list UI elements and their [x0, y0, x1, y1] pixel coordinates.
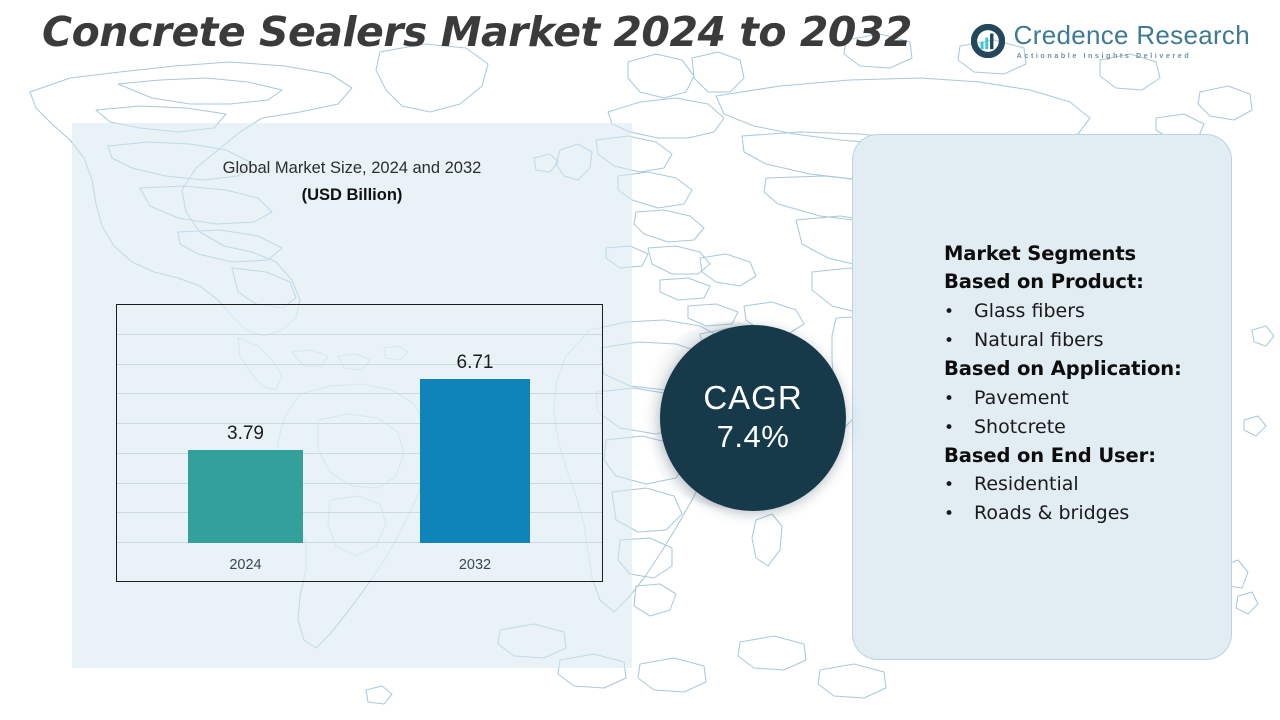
bullet-icon: •	[944, 299, 974, 325]
segment-item-roads-bridges: • Roads & bridges	[944, 499, 1244, 528]
gridline	[117, 334, 602, 335]
bar-2032	[420, 379, 530, 543]
segment-group-heading-end-user: Based on End User:	[944, 442, 1244, 470]
segment-item-label: Roads & bridges	[974, 499, 1129, 528]
cagr-badge: CAGR 7.4%	[660, 325, 846, 511]
page-title: Concrete Sealers Market 2024 to 2032	[42, 8, 912, 56]
bullet-icon: •	[944, 415, 974, 441]
bar-value-2032: 6.71	[420, 352, 530, 374]
logo-company-name: Credence Research	[1014, 22, 1250, 48]
bullet-icon: •	[944, 328, 974, 354]
cagr-value: 7.4%	[717, 419, 790, 455]
segment-item-shotcrete: • Shotcrete	[944, 413, 1244, 442]
market-segments-list: Market Segments Based on Product: • Glas…	[944, 240, 1244, 528]
header: Concrete Sealers Market 2024 to 2032 Cre…	[0, 0, 1280, 80]
segment-item-glass-fibers: • Glass fibers	[944, 297, 1244, 326]
brand-logo: Credence Research Actionable Insights De…	[971, 22, 1250, 59]
segment-group-heading-product: Based on Product:	[944, 268, 1244, 296]
segment-item-label: Glass fibers	[974, 297, 1085, 326]
logo-text: Credence Research Actionable Insights De…	[1014, 22, 1250, 59]
bullet-icon: •	[944, 386, 974, 412]
chart-plot-area: 3.79 6.71 2024 2032	[116, 304, 603, 582]
bullet-icon: •	[944, 472, 974, 498]
category-label-2024: 2024	[188, 557, 303, 573]
segments-title: Market Segments	[944, 240, 1244, 268]
logo-tagline: Actionable Insights Delivered	[1017, 52, 1250, 59]
bar-value-2024: 3.79	[188, 423, 303, 445]
market-size-chart: Global Market Size, 2024 and 2032 (USD B…	[72, 123, 632, 668]
segment-item-natural-fibers: • Natural fibers	[944, 326, 1244, 355]
segment-item-label: Pavement	[974, 384, 1069, 413]
bullet-icon: •	[944, 501, 974, 527]
bar-2024	[188, 450, 303, 543]
segment-item-label: Shotcrete	[974, 413, 1066, 442]
chart-title-line-2: (USD Billion)	[72, 186, 632, 205]
category-label-2032: 2032	[420, 557, 530, 573]
segment-item-residential: • Residential	[944, 470, 1244, 499]
segment-item-label: Natural fibers	[974, 326, 1104, 355]
bar-chart-circle-icon	[971, 24, 1005, 58]
chart-title-line-1: Global Market Size, 2024 and 2032	[72, 159, 632, 178]
cagr-label: CAGR	[703, 381, 802, 416]
segment-group-heading-application: Based on Application:	[944, 355, 1244, 383]
segment-item-label: Residential	[974, 470, 1079, 499]
segment-item-pavement: • Pavement	[944, 384, 1244, 413]
